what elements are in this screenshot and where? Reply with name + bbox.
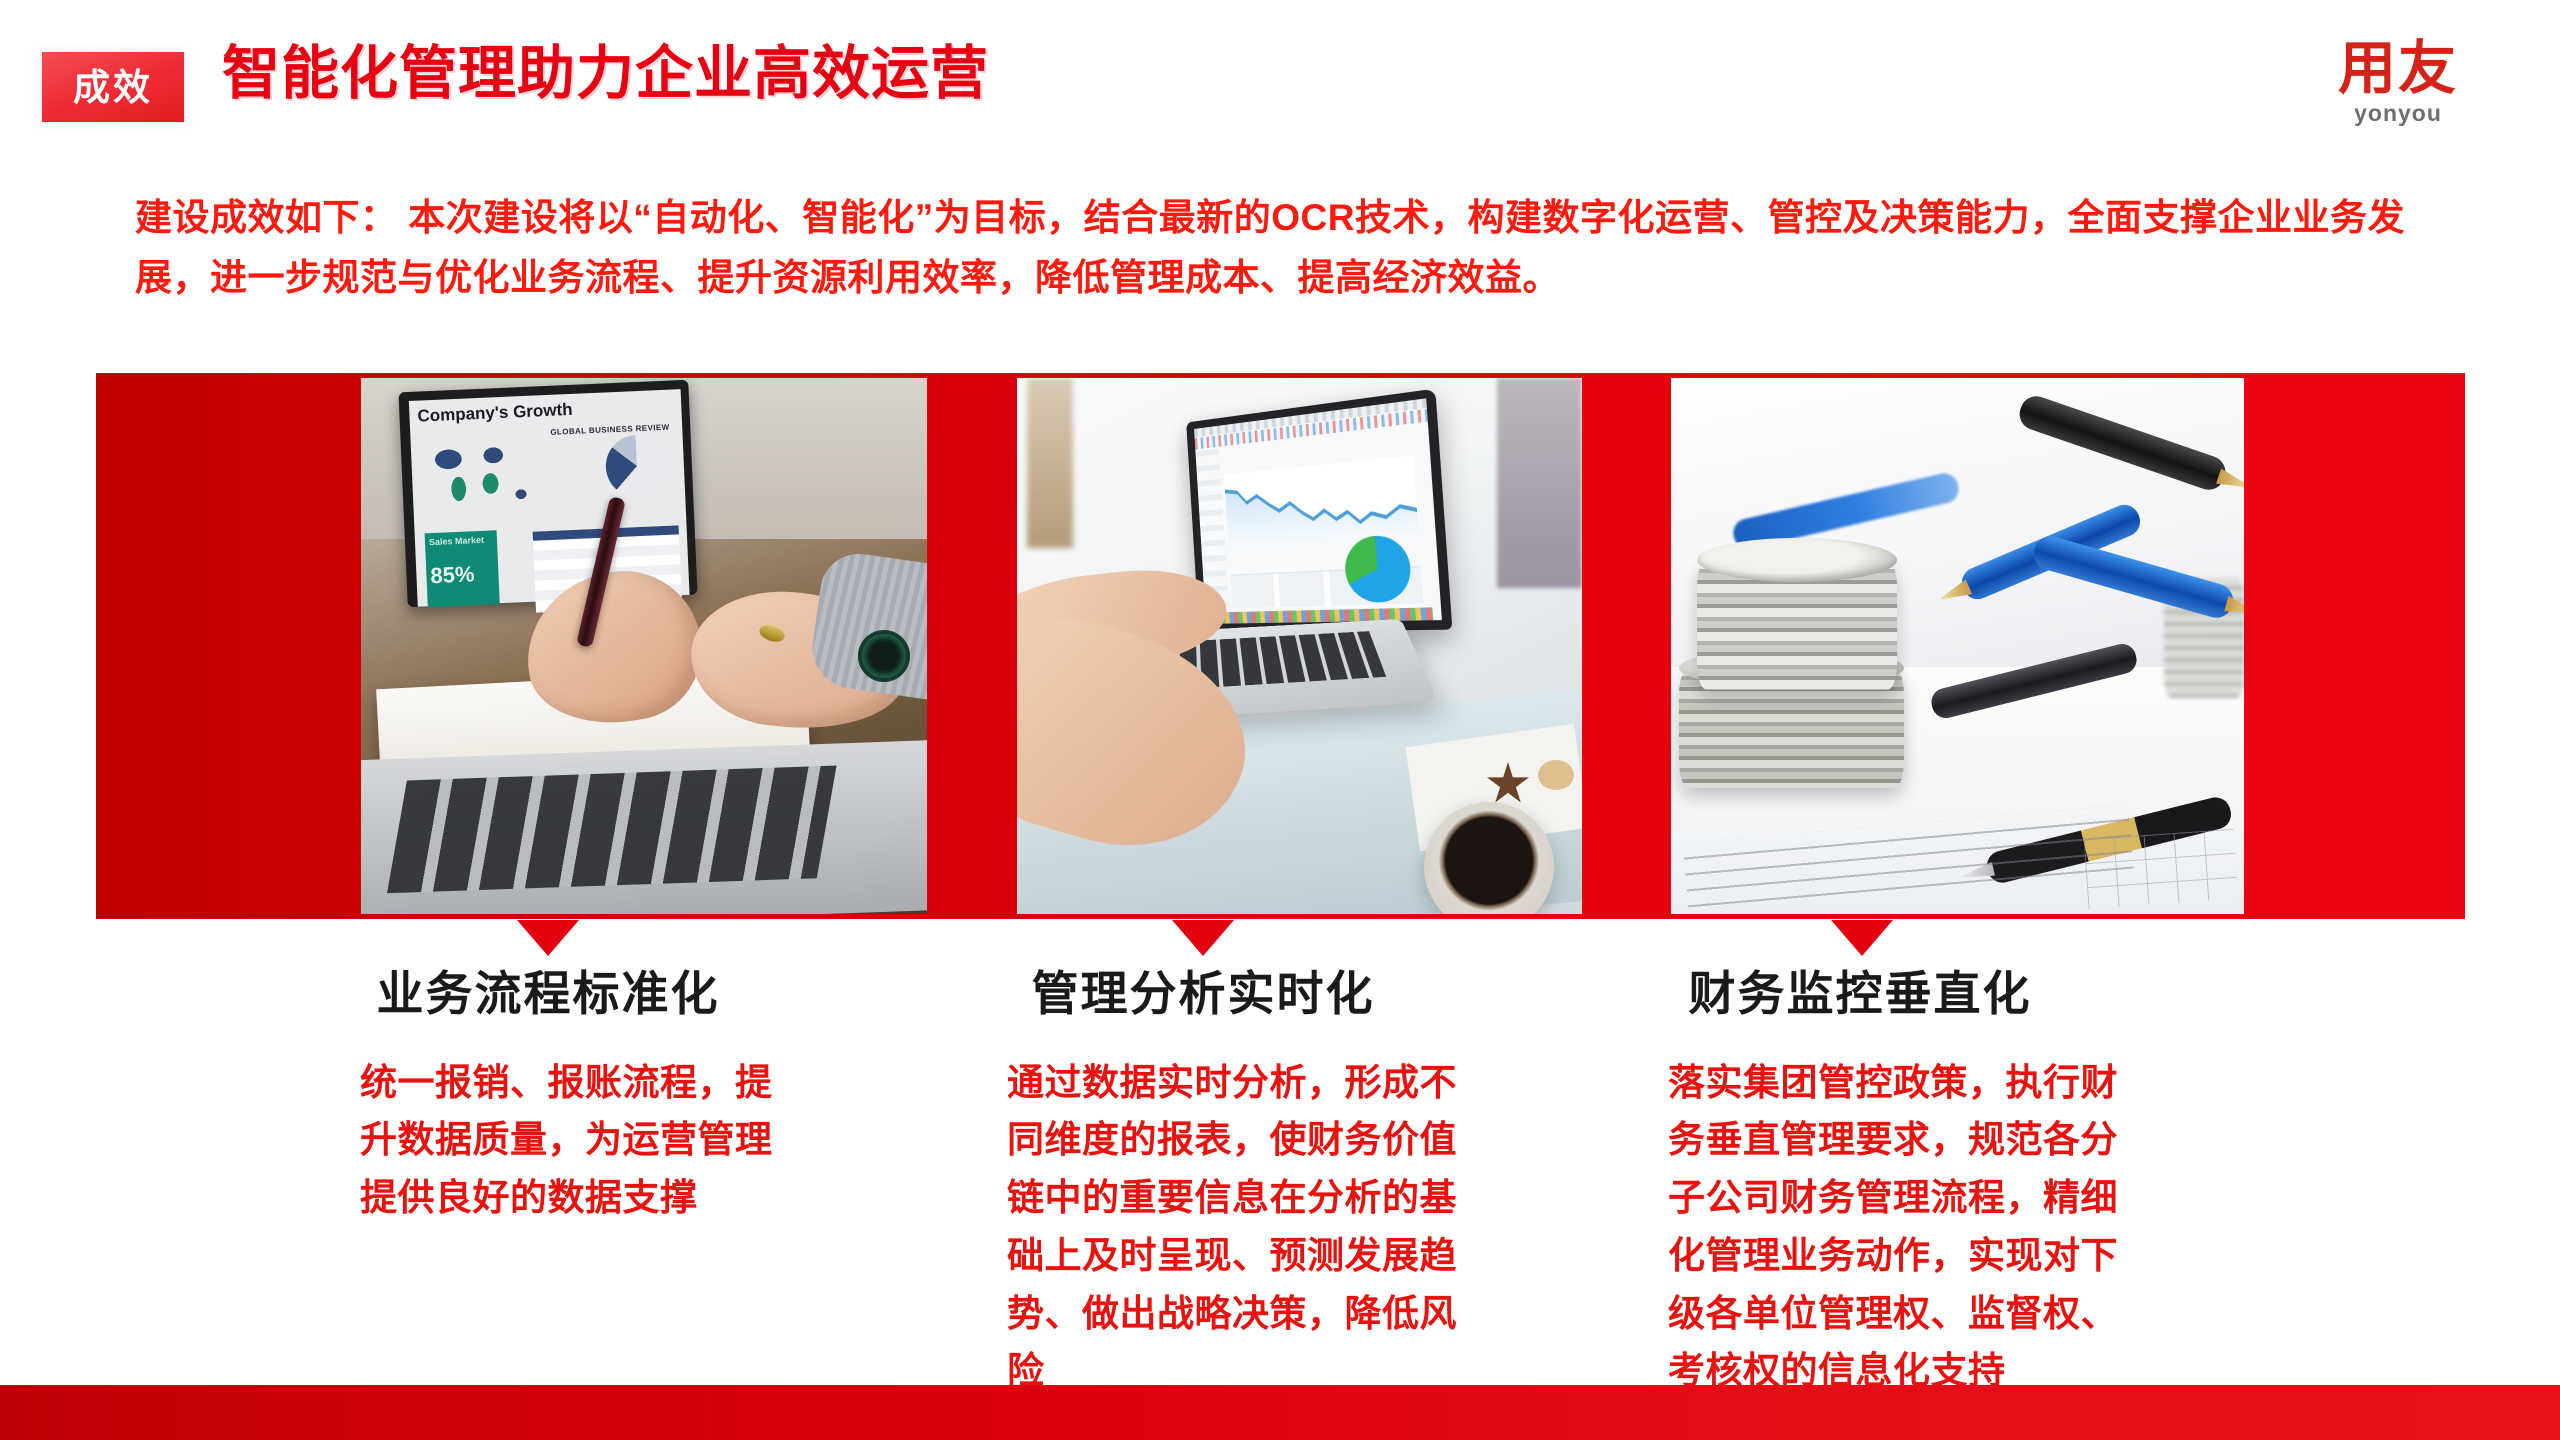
line-chart-panel xyxy=(1224,455,1419,549)
area-fill xyxy=(1224,455,1419,549)
kpi-tile: Sales Market 85% xyxy=(425,530,500,607)
wristwatch xyxy=(858,630,910,682)
feature-heading-2: 管理分析实时化 xyxy=(903,968,1503,1020)
pointer-arrow-2 xyxy=(1172,920,1234,956)
laptop-keyboard xyxy=(387,765,837,893)
feature-column-3: 财务监控垂直化 落实集团管控政策，执行财务垂直管理要求，规范各分子公司财务管理流… xyxy=(1560,968,2160,1400)
photo-band: Company's Growth GLOBAL BUSINESS REVIEW … xyxy=(96,373,2465,919)
curtain-blur xyxy=(1497,378,1582,588)
laptop-device xyxy=(361,740,927,914)
laptop-screen xyxy=(1194,398,1442,624)
page-title: 智能化管理助力企业高效运营 xyxy=(222,38,989,111)
logo-wordmark-cn: 用友 xyxy=(2298,40,2498,98)
coin-stack-upper xyxy=(1697,560,1897,690)
tablet-device-icon: Company's Growth GLOBAL BUSINESS REVIEW … xyxy=(398,380,697,607)
footer-accent-bar xyxy=(0,1385,2560,1440)
photo-business-writing: Company's Growth GLOBAL BUSINESS REVIEW … xyxy=(361,378,927,914)
yonyou-logo: 用友 yonyou xyxy=(2298,40,2498,125)
pointer-arrow-1 xyxy=(517,920,579,956)
round-cookie xyxy=(1538,760,1574,790)
photo-laptop-analytics xyxy=(1017,378,1582,914)
window-blur xyxy=(1027,378,1073,548)
feature-heading-3: 财务监控垂直化 xyxy=(1560,968,2160,1020)
feature-body-3: 落实集团管控政策，执行财务垂直管理要求，规范各分子公司财务管理流程，精细化管理业… xyxy=(1560,1054,2154,1400)
section-badge: 成效 xyxy=(42,52,184,122)
logo-wordmark-latin: yonyou xyxy=(2298,102,2498,125)
world-map-icon xyxy=(423,437,547,527)
feature-column-2: 管理分析实时化 通过数据实时分析，形成不同维度的报表，使财务价值链中的重要信息在… xyxy=(903,968,1503,1400)
tablet-screen-title: Company's Growth xyxy=(417,400,573,427)
laptop-screen-lid xyxy=(1186,389,1452,633)
feature-heading-1: 业务流程标准化 xyxy=(248,968,848,1020)
report-grid-table xyxy=(2084,829,2239,909)
kpi-label: Sales Market xyxy=(429,535,484,547)
feature-body-2: 通过数据实时分析，形成不同维度的报表，使财务价值链中的重要信息在分析的基础上及时… xyxy=(903,1054,1463,1400)
feature-body-1: 统一报销、报账流程，提升数据质量，为运营管理提供良好的数据支撑 xyxy=(248,1054,778,1227)
slide-header: 成效 智能化管理助力企业高效运营 用友 yonyou xyxy=(0,0,2560,160)
section-badge-label: 成效 xyxy=(73,69,153,106)
pie-chart-icon xyxy=(605,434,670,499)
intro-paragraph: 建设成效如下： 本次建设将以“自动化、智能化”为目标，结合最新的OCR技术，构建… xyxy=(135,188,2435,308)
tablet-screen-subtitle: GLOBAL BUSINESS REVIEW xyxy=(550,423,670,437)
feature-column-1: 业务流程标准化 统一报销、报账流程，提升数据质量，为运营管理提供良好的数据支撑 xyxy=(248,968,848,1227)
pointer-arrow-3 xyxy=(1831,920,1893,956)
photo-coins-and-pens xyxy=(1671,378,2244,914)
kpi-value: 85% xyxy=(430,561,495,589)
